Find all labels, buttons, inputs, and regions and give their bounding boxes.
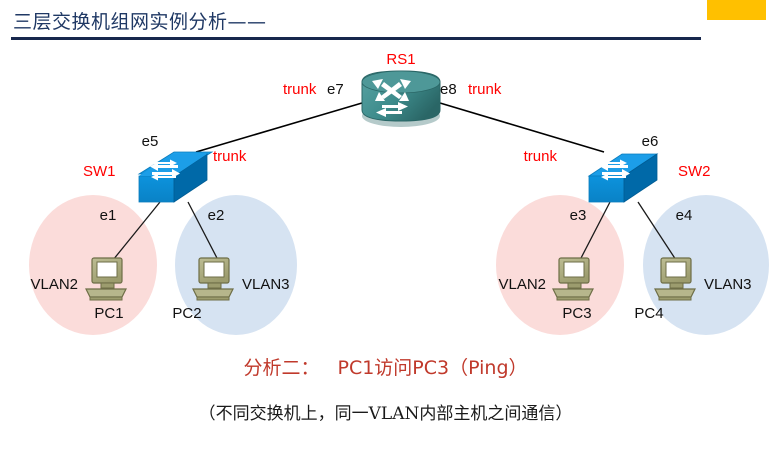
- slide-canvas: 三层交换机组网实例分析——: [0, 0, 771, 461]
- switch-label-sw2: SW2: [678, 163, 711, 180]
- host-label-pc1: PC1: [94, 305, 123, 322]
- device-host-pc4[interactable]: [655, 258, 695, 300]
- vlan-label-pc4: VLAN3: [704, 276, 752, 293]
- switch-label-sw1: SW1: [83, 163, 116, 180]
- vlan-label-pc1: VLAN2: [30, 276, 78, 293]
- network-topology-diagram: RS1 trunk e7 e8 trunk SW: [0, 0, 771, 461]
- trunk-link-rs1-sw1: [196, 103, 362, 152]
- trunk-label-sw2: trunk: [524, 148, 558, 165]
- device-host-pc2[interactable]: [193, 258, 233, 300]
- port-label-e5: e5: [142, 133, 159, 150]
- port-label-e4: e4: [676, 207, 693, 224]
- vlan-label-pc3: VLAN2: [498, 276, 546, 293]
- host-label-pc4: PC4: [634, 305, 663, 322]
- trunk-label-sw1: trunk: [213, 148, 247, 165]
- device-router-rs1[interactable]: [362, 71, 440, 127]
- analysis-caption-text: PC1访问PC3（Ping）: [337, 357, 527, 379]
- pc-icon: [86, 258, 126, 300]
- device-host-pc3[interactable]: [553, 258, 593, 300]
- analysis-caption: 分析二：PC1访问PC3（Ping）: [0, 353, 771, 380]
- vlan-label-pc2: VLAN3: [242, 276, 290, 293]
- port-label-e1: e1: [100, 207, 117, 224]
- host-label-pc3: PC3: [562, 305, 591, 322]
- pc-icon: [655, 258, 695, 300]
- trunk-label-rs1-right: trunk: [468, 81, 502, 98]
- port-label-e2: e2: [208, 207, 225, 224]
- port-label-e6: e6: [642, 133, 659, 150]
- device-switch-sw1[interactable]: [139, 152, 212, 202]
- router-label-rs1: RS1: [386, 51, 415, 68]
- analysis-caption-prefix: 分析二：: [243, 357, 319, 379]
- device-switch-sw2[interactable]: [589, 154, 657, 202]
- port-label-e7: e7: [327, 81, 344, 98]
- pc-icon: [193, 258, 233, 300]
- port-label-e3: e3: [570, 207, 587, 224]
- trunk-label-rs1-left: trunk: [283, 81, 317, 98]
- pc-icon: [553, 258, 593, 300]
- host-label-pc2: PC2: [172, 305, 201, 322]
- port-label-e8: e8: [440, 81, 457, 98]
- analysis-subcaption: （不同交换机上，同一VLAN内部主机之间通信）: [0, 399, 771, 424]
- trunk-link-rs1-sw2: [440, 103, 604, 152]
- device-host-pc1[interactable]: [86, 258, 126, 300]
